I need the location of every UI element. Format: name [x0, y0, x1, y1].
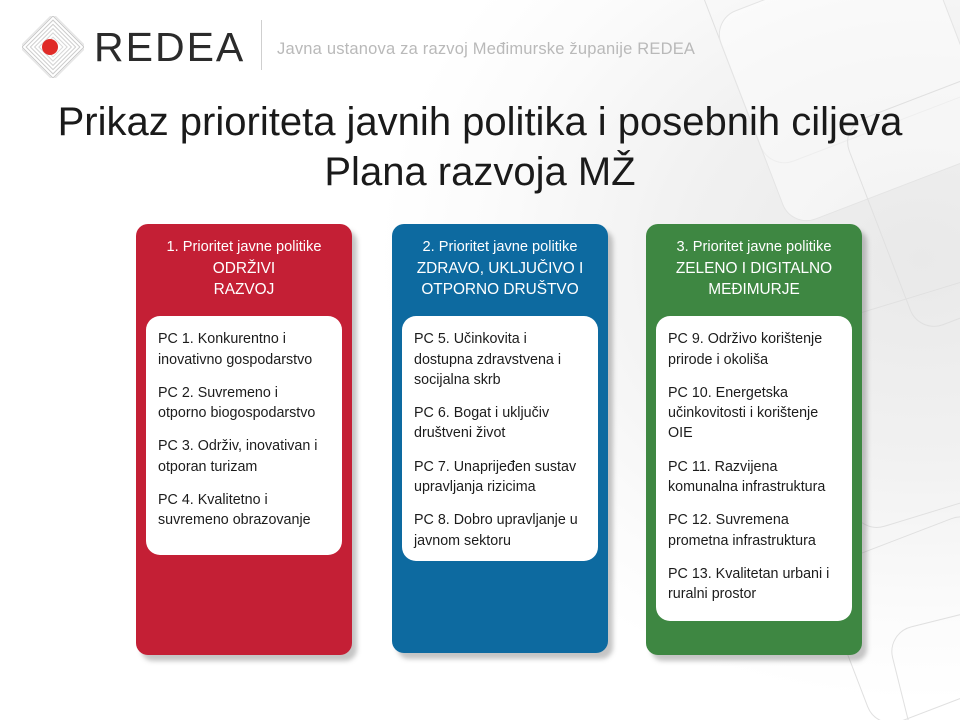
list-item: PC 2. Suvremeno i otporno biogospodarstv… — [158, 383, 330, 424]
brand-tagline: Javna ustanova za razvoj Međimurske župa… — [277, 40, 695, 59]
priority-card-3-name: ZELENO I DIGITALNOMEĐIMURJE — [654, 259, 854, 300]
priority-card-2-header: 2. Prioritet javne politike ZDRAVO, UKLJ… — [392, 224, 608, 310]
redea-diamond-logo-icon — [22, 16, 84, 78]
priority-card-1-objectives: PC 1. Konkurentno i inovativno gospodars… — [146, 316, 342, 555]
list-item: PC 11. Razvijena komunalna infrastruktur… — [668, 457, 840, 498]
list-item: PC 10. Energetska učinkovitosti i korišt… — [668, 383, 840, 444]
priority-card-1[interactable]: 1. Prioritet javne politike ODRŽIVIRAZVO… — [136, 224, 352, 655]
priority-card-3-label: 3. Prioritet javne politike — [654, 238, 854, 256]
logo-red-dot-icon — [42, 39, 58, 55]
list-item: PC 3. Održiv, inovativan i otporan turiz… — [158, 436, 330, 477]
brand-header: REDEA Javna ustanova za razvoj Međimursk… — [0, 0, 960, 88]
list-item: PC 12. Suvremena prometna infrastruktura — [668, 510, 840, 551]
list-item: PC 9. Održivo korištenje prirode i okoli… — [668, 329, 840, 370]
page-title-line-1: Prikaz prioriteta javnih politika i pose… — [40, 97, 920, 147]
priority-card-1-name: ODRŽIVIRAZVOJ — [144, 259, 344, 300]
priority-card-2[interactable]: 2. Prioritet javne politike ZDRAVO, UKLJ… — [392, 224, 608, 653]
priority-card-2-objectives: PC 5. Učinkovita i dostupna zdravstvena … — [402, 316, 598, 561]
priority-card-2-name: ZDRAVO, UKLJUČIVO IOTPORNO DRUŠTVO — [400, 259, 600, 300]
page-title-line-2: Plana razvoja MŽ — [40, 147, 920, 197]
page-title: Prikaz prioriteta javnih politika i pose… — [40, 97, 920, 197]
priority-card-1-header: 1. Prioritet javne politike ODRŽIVIRAZVO… — [136, 224, 352, 310]
priority-card-2-label: 2. Prioritet javne politike — [400, 238, 600, 256]
list-item: PC 13. Kvalitetan urbani i ruralni prost… — [668, 564, 840, 605]
brand-wordmark: REDEA — [94, 24, 245, 71]
list-item: PC 8. Dobro upravljanje u javnom sektoru — [414, 510, 586, 551]
list-item: PC 1. Konkurentno i inovativno gospodars… — [158, 329, 330, 370]
priority-card-3[interactable]: 3. Prioritet javne politike ZELENO I DIG… — [646, 224, 862, 655]
priority-card-3-header: 3. Prioritet javne politike ZELENO I DIG… — [646, 224, 862, 310]
priority-card-3-objectives: PC 9. Održivo korištenje prirode i okoli… — [656, 316, 852, 621]
list-item: PC 7. Unaprijeđen sustav upravljanja riz… — [414, 457, 586, 498]
list-item: PC 5. Učinkovita i dostupna zdravstvena … — [414, 329, 586, 390]
brand-divider — [261, 20, 262, 70]
list-item: PC 6. Bogat i uključiv društveni život — [414, 403, 586, 444]
priority-card-1-label: 1. Prioritet javne politike — [144, 238, 344, 256]
list-item: PC 4. Kvalitetno i suvremeno obrazovanje — [158, 490, 330, 531]
